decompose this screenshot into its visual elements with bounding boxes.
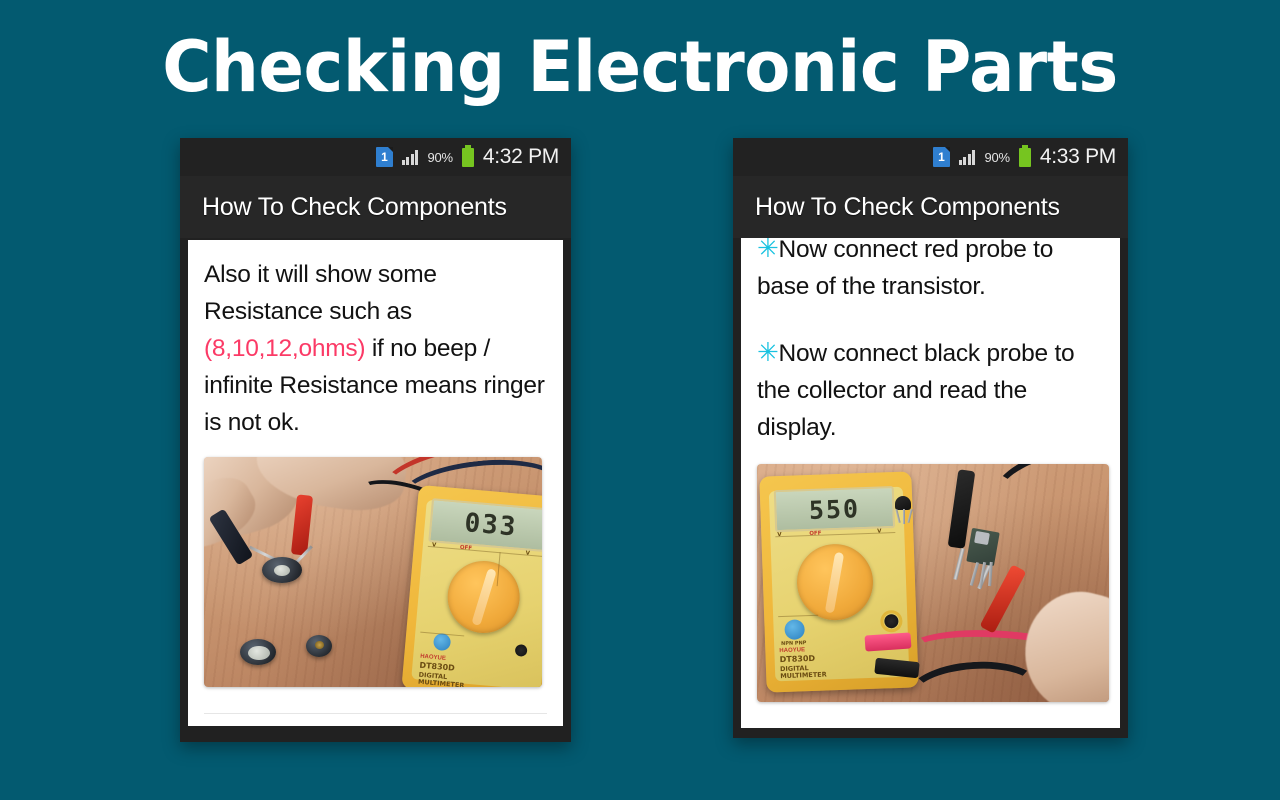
action-bar-title: How To Check Components — [755, 193, 1060, 222]
photo-scene-transistor-test: 550 HAOYUE DT830D DIGITAL MULTIMETER OFF… — [757, 464, 1109, 702]
battery-icon — [1019, 148, 1031, 167]
bullet-paragraph: ✳Now connect red probe to base of the tr… — [757, 238, 1104, 305]
content-photo[interactable]: 033 HAOYUE DT830D DIGITAL MULTIMETER OFF… — [204, 457, 542, 687]
content-sheet[interactable]: Also it will show some Resistance such a… — [188, 240, 563, 726]
action-bar: How To Check Components — [733, 176, 1128, 238]
page-title: Checking Electronic Parts — [26, 26, 1255, 108]
signal-bars-icon — [959, 150, 976, 165]
body-paragraph: Also it will show some Resistance such a… — [204, 256, 547, 441]
status-bar: 1 90% 4:32 PM — [180, 138, 571, 176]
sim-card-icon: 1 — [376, 147, 393, 167]
asterisk-bullet-icon: ✳ — [757, 337, 779, 367]
photo-scene-speaker-test: 033 HAOYUE DT830D DIGITAL MULTIMETER OFF… — [204, 457, 542, 687]
status-bar-clock: 4:32 PM — [483, 145, 559, 169]
multimeter-reading: 033 — [463, 508, 518, 543]
action-bar: How To Check Components — [180, 176, 571, 238]
paragraph-text-part: Also it will show some Resistance such a… — [204, 261, 437, 325]
battery-icon — [462, 148, 474, 167]
paragraph-text: Now connect red probe to base of the tra… — [757, 238, 1053, 300]
phone-screenshot-right: 1 90% 4:33 PM How To Check Components ✳N… — [733, 138, 1128, 738]
signal-bars-icon — [402, 150, 419, 165]
action-bar-title: How To Check Components — [202, 193, 507, 222]
multimeter-sub-label: DIGITAL MULTIMETER — [780, 664, 827, 679]
content-sheet[interactable]: ✳Now connect red probe to base of the tr… — [741, 238, 1120, 728]
status-bar: 1 90% 4:33 PM — [733, 138, 1128, 176]
battery-percent-label: 90% — [984, 150, 1009, 165]
content-divider — [204, 713, 547, 714]
paragraph-text: Now connect black probe to the collector… — [757, 340, 1074, 441]
content-photo[interactable]: 550 HAOYUE DT830D DIGITAL MULTIMETER OFF… — [757, 464, 1109, 702]
battery-percent-label: 90% — [427, 150, 452, 165]
multimeter-model: DT830D — [780, 655, 816, 665]
poster-canvas: Checking Electronic Parts 1 90% 4:32 PM … — [0, 0, 1280, 800]
phone-screenshot-left: 1 90% 4:32 PM How To Check Components Al… — [180, 138, 571, 742]
multimeter-brand: HAOYUE — [779, 647, 805, 654]
multimeter-reading: 550 — [808, 494, 860, 525]
sim-card-icon: 1 — [933, 147, 950, 167]
status-bar-clock: 4:33 PM — [1040, 145, 1116, 169]
bullet-paragraph: ✳Now connect black probe to the collecto… — [757, 335, 1104, 446]
highlighted-values: (8,10,12,ohms) — [204, 335, 365, 362]
asterisk-bullet-icon: ✳ — [757, 238, 779, 263]
